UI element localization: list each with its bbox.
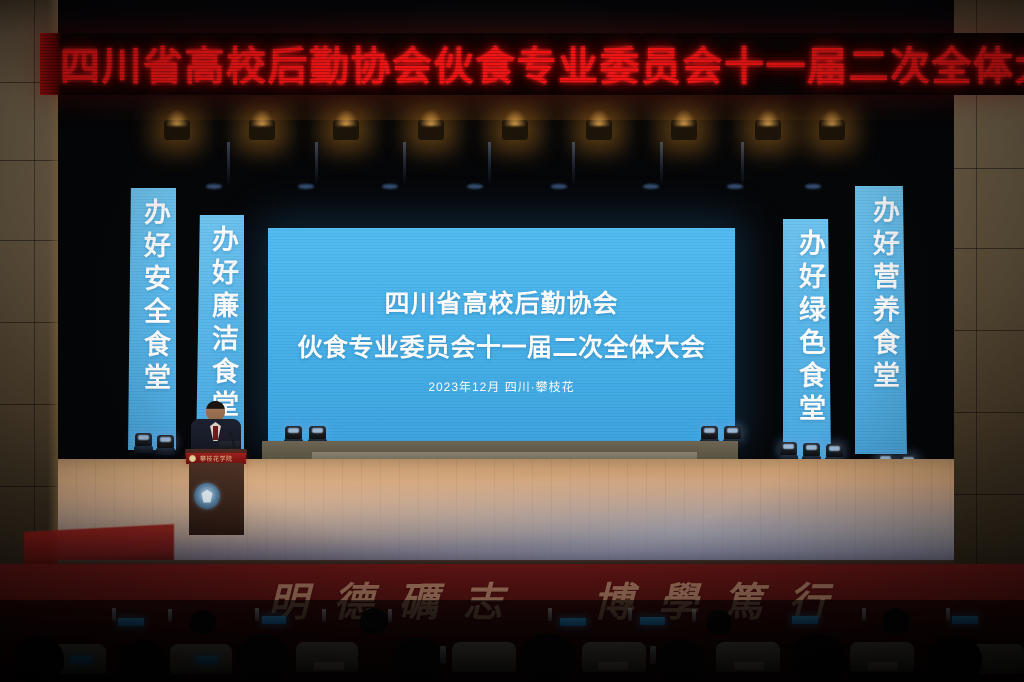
podium-banner-emblem-icon xyxy=(189,455,196,462)
main-led-screen: 四川省高校后勤协会 伙食专业委员会十一届二次全体大会 2023年12月 四川·攀… xyxy=(268,228,735,441)
sidebar-item-banner-right-inner: 办好绿色食堂 xyxy=(783,219,831,459)
podium-and-speaker: 攀枝花学院 xyxy=(177,395,255,545)
led-header-banner: 四川省高校后勤协会伙食专业委员会十一届二次全体大会 xyxy=(40,33,1024,95)
podium-banner-text: 攀枝花学院 xyxy=(200,454,233,463)
screen-title-line-2: 伙食专业委员会十一届二次全体大会 xyxy=(268,328,735,364)
overhead-light-truss xyxy=(150,112,854,204)
conference-stage-photo: 办好安全食堂 办好廉洁食堂 办好绿色食堂 办好营养食堂 四川省高校后勤协会 伙食… xyxy=(0,0,1024,682)
banner-left-outer-text: 办好安全食堂 xyxy=(136,198,168,396)
led-header-banner-text: 四川省高校后勤协会伙食专业委员会十一届二次全体大会 xyxy=(60,34,1024,92)
sidebar-item-banner-left-outer: 办好安全食堂 xyxy=(128,188,176,450)
moving-head-light xyxy=(156,433,175,455)
speaker-head xyxy=(206,401,225,421)
banner-right-outer-text: 办好营养食堂 xyxy=(865,196,897,394)
moving-head-light xyxy=(134,431,153,453)
seated-audience xyxy=(0,600,1024,682)
screen-subtitle-date-location: 2023年12月 四川·攀枝花 xyxy=(268,378,735,395)
screen-title-line-1: 四川省高校后勤协会 xyxy=(268,284,735,320)
university-crest-icon xyxy=(194,483,220,509)
speaker-tie xyxy=(213,426,218,440)
sidebar-item-banner-right-outer: 办好营养食堂 xyxy=(855,186,907,454)
banner-right-inner-text: 办好绿色食堂 xyxy=(791,229,823,427)
banner-left-inner-text: 办好廉洁食堂 xyxy=(204,225,236,423)
